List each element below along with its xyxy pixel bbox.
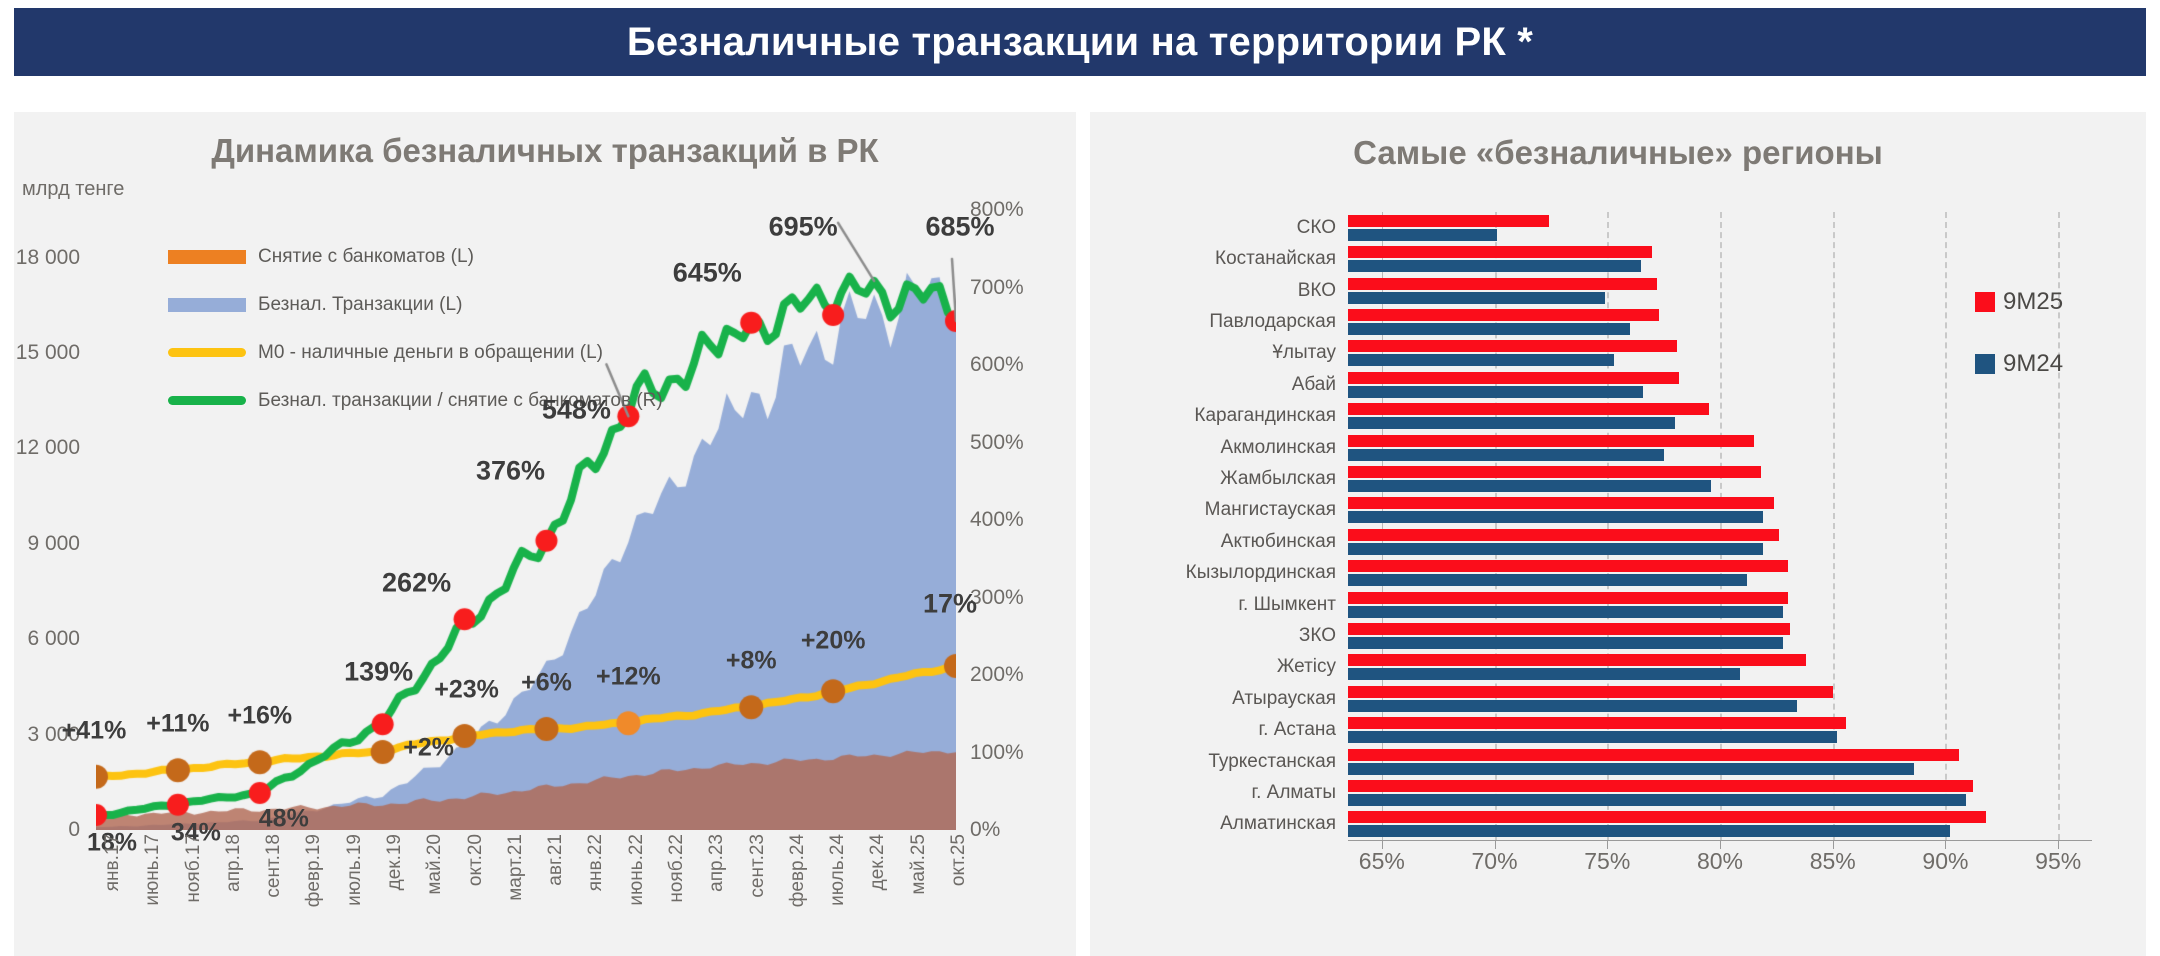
gridline <box>1945 212 1947 840</box>
gridline <box>1495 212 1497 840</box>
bar-9m25 <box>1348 811 1986 823</box>
left-x-tick-label: апр.18 <box>223 834 245 892</box>
right-x-axis-tick-labels: 65%70%75%80%85%90%95% <box>1348 848 2092 898</box>
bar-9m24 <box>1348 606 1783 618</box>
right-chart-title: Самые «безналичные» регионы <box>1090 134 2146 172</box>
left-y-tick-label: 15 000 <box>16 341 80 365</box>
data-label: +11% <box>146 710 209 739</box>
left-x-tick-label: янв.22 <box>585 834 607 891</box>
left-x-tick-label: сент.18 <box>263 834 285 898</box>
bar-9m25 <box>1348 372 1679 384</box>
left-y-axis-unit-label: млрд тенге <box>22 178 124 201</box>
right-x-tickmark <box>1945 840 1946 849</box>
bar-9m25 <box>1348 592 1788 604</box>
bar-9m24 <box>1348 449 1664 461</box>
category-label: Кызылординская <box>1186 562 1336 584</box>
category-label: Абай <box>1292 374 1336 396</box>
left-x-tick-label: окт.20 <box>465 834 487 886</box>
category-label: Жамбылская <box>1220 468 1336 490</box>
bar-9m25 <box>1348 686 1833 698</box>
data-label: +23% <box>434 675 499 704</box>
bar-9m25 <box>1348 780 1973 792</box>
category-label: Туркестанская <box>1208 751 1336 773</box>
right-x-tickmark <box>1720 840 1721 849</box>
right-x-tickmark <box>1833 840 1834 849</box>
bar-9m24 <box>1348 731 1837 743</box>
left-y-tick-label: 12 000 <box>16 436 80 460</box>
left-x-tick-label: дек.24 <box>867 834 889 890</box>
left-y2-tick-label: 200% <box>970 663 1024 687</box>
bar-9m25 <box>1348 623 1790 635</box>
legend-swatch-2 <box>168 298 246 312</box>
bar-9m24 <box>1348 292 1605 304</box>
legend-swatch-4 <box>168 396 246 405</box>
bar-9m25 <box>1348 215 1549 227</box>
right-x-tickmark <box>1382 840 1383 849</box>
bar-9m25 <box>1348 435 1754 447</box>
bar-9m24 <box>1348 229 1497 241</box>
legend-item[interactable]: M0 - наличные деньги в обращении (L) <box>168 336 788 369</box>
left-y2-tick-label: 300% <box>970 586 1024 610</box>
bar-9m24 <box>1348 543 1763 555</box>
legend-item[interactable]: 9M25 <box>1975 288 2063 316</box>
legend-item-label: 9M25 <box>2003 288 2063 316</box>
left-y2-tick-label: 400% <box>970 508 1024 532</box>
bar-9m24 <box>1348 794 1966 806</box>
page-title: Безналичные транзакции на территории РК … <box>627 20 1533 65</box>
bar-9m25 <box>1348 340 1677 352</box>
gridline <box>1382 212 1383 840</box>
bar-9m24 <box>1348 480 1711 492</box>
data-label: 695% <box>769 212 838 243</box>
left-x-tick-label: янв.17 <box>102 834 124 891</box>
bar-9m24 <box>1348 511 1763 523</box>
left-secondary-y-axis: 0%100%200%300%400%500%600%700%800% <box>962 210 1060 830</box>
right-x-tickmark <box>2058 840 2059 849</box>
left-y-tick-label: 18 000 <box>16 246 80 270</box>
category-label: СКО <box>1297 217 1336 239</box>
bar-9m24 <box>1348 574 1747 586</box>
left-y2-tick-label: 500% <box>970 431 1024 455</box>
data-label: 548% <box>542 395 611 426</box>
left-x-tick-label: авг.21 <box>545 834 567 886</box>
data-label: +12% <box>596 663 661 692</box>
legend-swatch-1 <box>1975 292 1995 312</box>
category-label: г. Шымкент <box>1238 594 1336 616</box>
bar-9m24 <box>1348 260 1641 272</box>
bar-9m25 <box>1348 246 1652 258</box>
legend-item[interactable]: Безнал. Транзакции (L) <box>168 288 788 321</box>
left-y2-tick-label: 700% <box>970 276 1024 300</box>
right-x-tick-label: 65% <box>1359 848 1405 875</box>
left-x-tick-label: март.21 <box>505 834 527 901</box>
bar-9m25 <box>1348 403 1709 415</box>
category-label: Атырауская <box>1232 688 1336 710</box>
category-label: Костанайская <box>1215 248 1336 270</box>
right-x-tick-label: 90% <box>1922 848 1968 875</box>
right-chart-legend: 9M259M24 <box>1975 288 2063 412</box>
right-x-tickmark <box>1607 840 1608 849</box>
left-x-tick-label: дек.19 <box>384 834 406 890</box>
category-label: Алматинская <box>1220 813 1336 835</box>
bar-9m25 <box>1348 309 1659 321</box>
category-label: ВКО <box>1298 280 1336 302</box>
left-x-tick-label: сент.23 <box>747 834 769 898</box>
bar-9m24 <box>1348 763 1914 775</box>
left-x-tick-label: июль.24 <box>827 834 849 906</box>
legend-swatch-2 <box>1975 354 1995 374</box>
left-y2-tick-label: 600% <box>970 353 1024 377</box>
left-y-tick-label: 6 000 <box>27 627 80 651</box>
data-label: +20% <box>801 627 866 656</box>
category-label: Ұлытау <box>1272 342 1336 364</box>
bar-9m24 <box>1348 700 1797 712</box>
data-label: 48% <box>259 805 309 834</box>
bar-9m24 <box>1348 417 1675 429</box>
data-label: 262% <box>382 568 451 599</box>
bar-9m25 <box>1348 654 1806 666</box>
left-x-tick-label: нояб.17 <box>183 834 205 903</box>
right-chart-category-labels: СКОКостанайскаяВКОПавлодарскаяҰлытауАбай… <box>1110 212 1342 840</box>
left-x-tick-label: апр.23 <box>706 834 728 892</box>
right-x-tick-label: 85% <box>1810 848 1856 875</box>
category-label: Карагандинская <box>1194 405 1336 427</box>
right-x-tick-label: 70% <box>1472 848 1518 875</box>
left-y2-tick-label: 0% <box>970 818 1000 842</box>
bar-9m25 <box>1348 749 1959 761</box>
category-label: Актюбинская <box>1221 531 1336 553</box>
left-y-tick-label: 0 <box>68 818 80 842</box>
right-x-tick-label: 75% <box>1584 848 1630 875</box>
bar-9m24 <box>1348 323 1630 335</box>
category-label: г. Алматы <box>1252 782 1337 804</box>
data-label: 17% <box>923 589 977 620</box>
left-x-tick-label: февр.24 <box>787 834 809 907</box>
data-label: +41% <box>62 716 127 745</box>
bar-9m25 <box>1348 497 1774 509</box>
bar-9m25 <box>1348 717 1846 729</box>
bar-9m24 <box>1348 354 1614 366</box>
left-y-tick-label: 9 000 <box>27 532 80 556</box>
gridline <box>1720 212 1722 840</box>
left-x-tick-label: май.25 <box>908 834 930 895</box>
data-label: 139% <box>344 657 413 688</box>
left-x-tick-label: июнь.22 <box>626 834 648 906</box>
bar-9m25 <box>1348 466 1761 478</box>
legend-item[interactable]: Безнал. транзакции / снятие с банкоматов… <box>168 384 788 417</box>
bar-9m24 <box>1348 825 1950 837</box>
category-label: ЗКО <box>1299 625 1336 647</box>
bar-9m24 <box>1348 637 1783 649</box>
legend-swatch-1 <box>168 250 246 264</box>
bar-9m25 <box>1348 278 1657 290</box>
data-label: +6% <box>521 668 572 697</box>
gridline <box>1607 212 1609 840</box>
left-x-tick-label: нояб.22 <box>666 834 688 903</box>
data-label: +2% <box>403 733 454 762</box>
right-x-tick-label: 95% <box>2035 848 2081 875</box>
bar-9m25 <box>1348 560 1788 572</box>
gridline <box>1833 212 1835 840</box>
right-x-tickmark <box>1495 840 1496 849</box>
legend-item-label: Снятие с банкоматов (L) <box>258 246 474 268</box>
data-label: 645% <box>673 257 742 288</box>
data-label: 376% <box>476 455 545 486</box>
legend-item-label: Безнал. Транзакции (L) <box>258 294 462 316</box>
bar-9m24 <box>1348 386 1643 398</box>
category-label: Павлодарская <box>1209 311 1336 333</box>
left-x-tick-label: июнь.17 <box>142 834 164 906</box>
data-label: +8% <box>726 647 777 676</box>
legend-item-label: M0 - наличные деньги в обращении (L) <box>258 342 603 364</box>
left-chart-title: Динамика безналичных транзакций в РК <box>14 132 1076 170</box>
category-label: Жетісу <box>1277 656 1336 678</box>
legend-swatch-3 <box>168 348 246 357</box>
data-label: 685% <box>925 211 994 242</box>
right-x-tick-label: 80% <box>1697 848 1743 875</box>
category-label: Акмолинская <box>1221 437 1336 459</box>
legend-item[interactable]: 9M24 <box>1975 350 2063 378</box>
left-y2-tick-label: 100% <box>970 741 1024 765</box>
infographic-page: Безналичные транзакции на территории РК … <box>0 0 2160 956</box>
page-header-banner: Безналичные транзакции на территории РК … <box>14 8 2146 76</box>
left-x-tick-label: февр.19 <box>303 834 325 907</box>
bar-9m24 <box>1348 668 1740 680</box>
category-label: Мангистауская <box>1205 499 1336 521</box>
legend-item-label: 9M24 <box>2003 350 2063 378</box>
left-x-tick-label: июль.19 <box>344 834 366 906</box>
bar-9m25 <box>1348 529 1779 541</box>
category-label: г. Астана <box>1259 719 1336 741</box>
left-x-tick-label: окт.25 <box>948 834 970 886</box>
data-label: +16% <box>227 702 292 731</box>
left-x-axis-tick-labels: янв.17июнь.17нояб.17апр.18сент.18февр.19… <box>96 834 956 954</box>
left-x-tick-label: май.20 <box>424 834 446 895</box>
